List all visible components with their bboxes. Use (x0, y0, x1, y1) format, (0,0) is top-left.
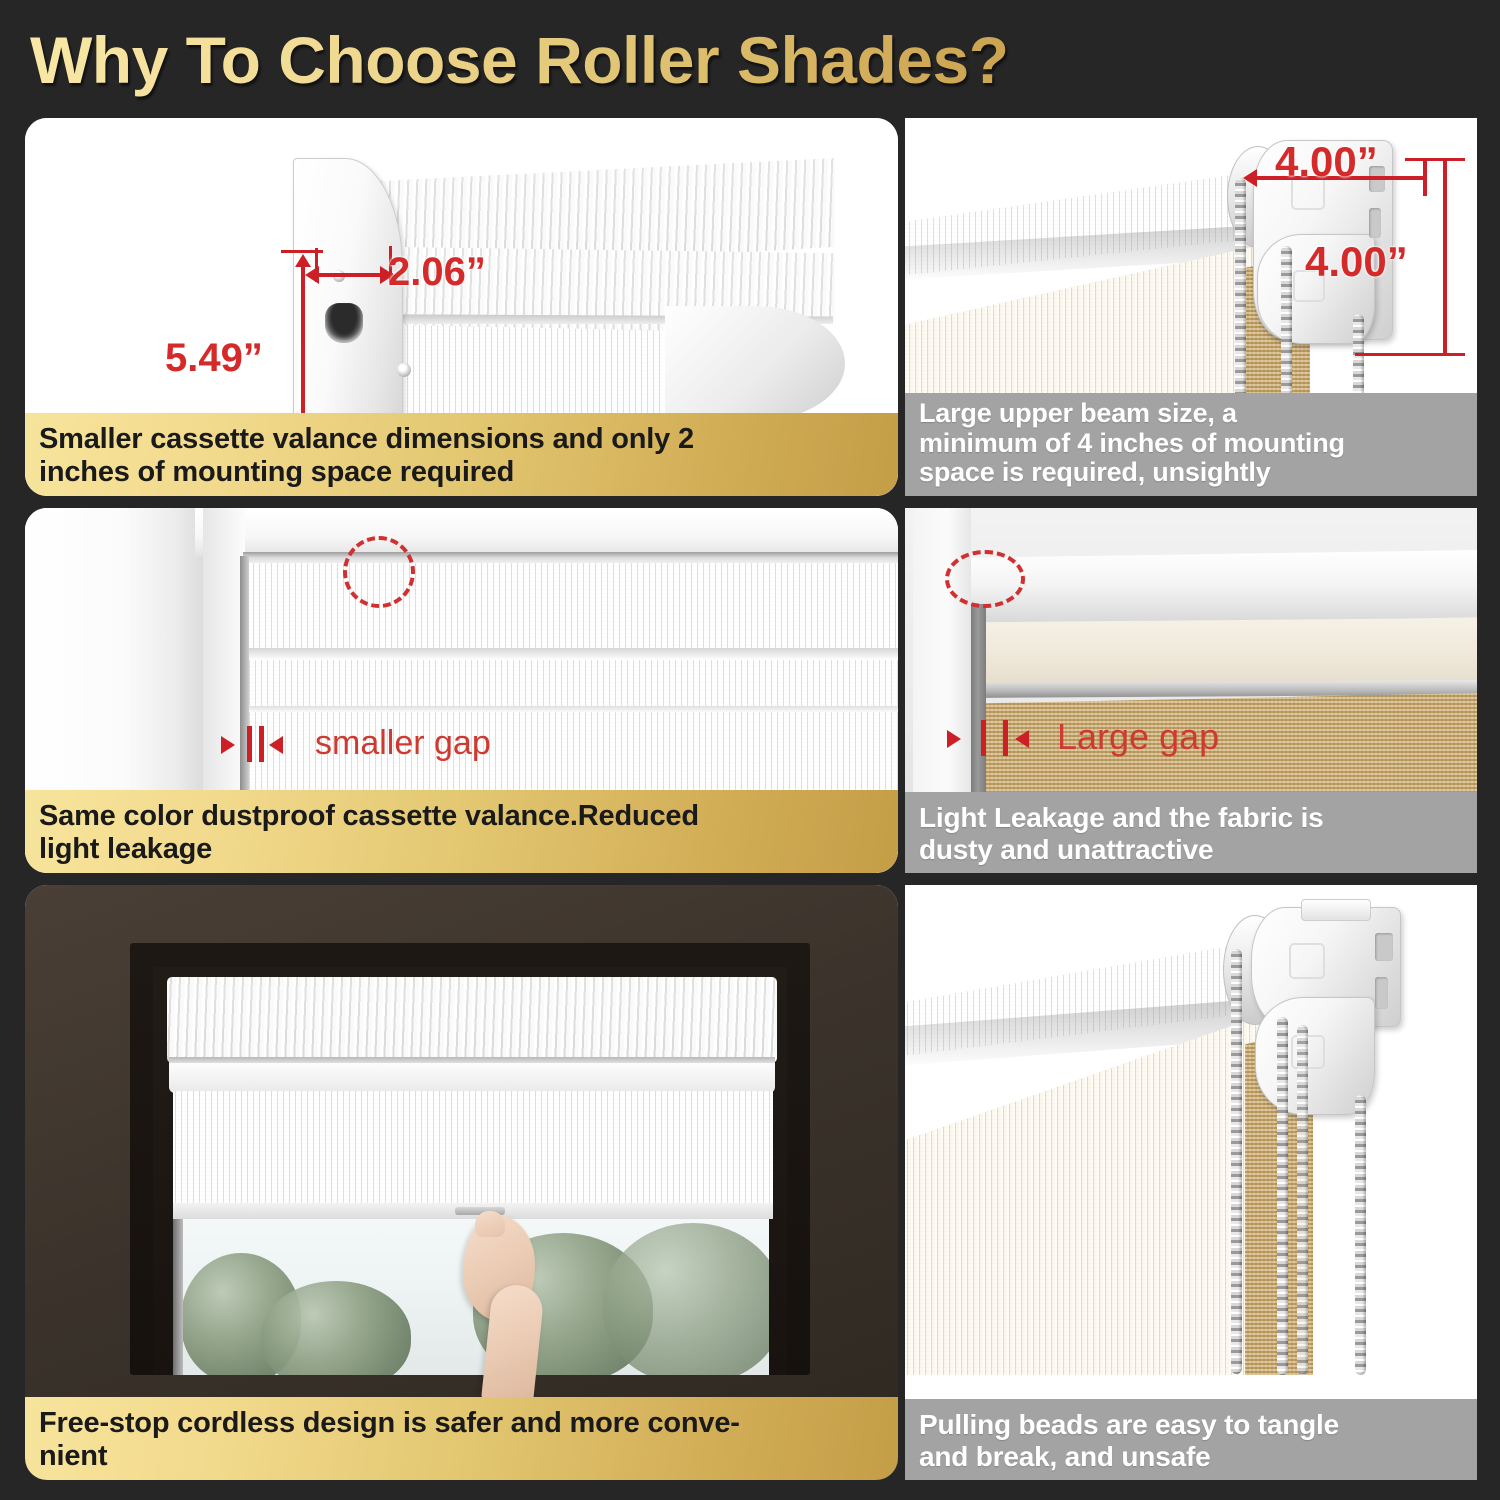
cassette-headrail (167, 977, 777, 1063)
bead-chain-2 (1277, 1017, 1288, 1375)
dim-width-label: 4.00” (1275, 138, 1378, 186)
dim-height-tick-top (281, 250, 323, 253)
panel-6-caption: Pulling beads are easy to tangle and bre… (905, 1399, 1477, 1480)
panel-pulling-beads: Pulling beads are easy to tangle and bre… (905, 885, 1477, 1480)
fabric-band-cream (965, 618, 1477, 690)
tree-far-right (603, 1223, 769, 1375)
valance-under-shadow (245, 648, 898, 660)
highlight-circle (945, 550, 1025, 608)
gap-tick-right (1003, 720, 1008, 756)
bead-chain-4 (1355, 1095, 1366, 1375)
head-rail (965, 550, 1477, 628)
headrail-lower-lip (169, 1063, 775, 1093)
bead-chain-1 (1231, 949, 1242, 1374)
gap-label: smaller gap (315, 724, 491, 763)
panel-1-caption: Smaller cassette valance dimensions and … (25, 413, 898, 496)
end-cap-control-slot (325, 303, 363, 343)
window-mullion (173, 1215, 183, 1375)
tree-left-mid (261, 1281, 411, 1375)
dim-height-tick-bottom (1355, 353, 1465, 356)
bracket-slot-lower (1369, 208, 1381, 238)
panel-4-caption: Light Leakage and the fabric is dusty an… (905, 792, 1477, 873)
dim-height-label: 4.00” (1305, 238, 1408, 286)
panel-large-upper-beam: 4.00” 4.00” Large upper beam size, a min… (905, 118, 1477, 496)
panel-2-caption: Large upper beam size, a minimum of 4 in… (905, 393, 1477, 496)
bracket-slot-lower (1375, 977, 1388, 1009)
panel-dustproof-valance: smaller gap Same color dustproof cassett… (25, 508, 898, 873)
gap-arrow-right (269, 736, 283, 754)
highlight-circle (343, 536, 415, 608)
gap-tick-left (981, 720, 986, 756)
dim-width-tick-right (1423, 160, 1427, 196)
panel-5-photo (25, 885, 898, 1480)
gap-label: Large gap (1057, 716, 1219, 758)
bead-chain-1 (1235, 178, 1246, 418)
dim-width-label: 2.06” (388, 250, 486, 295)
shade-fabric (173, 1091, 773, 1219)
dim-height-line (1443, 160, 1447, 356)
gap-tick-right (259, 726, 264, 762)
gap-arrow-right (1015, 730, 1029, 748)
bracket-top-tab (1301, 899, 1371, 921)
dim-height-label: 5.49” (165, 336, 263, 381)
dim-width-tick-left (315, 248, 318, 282)
bead-chain-3 (1297, 1025, 1308, 1375)
dim-width-arrow-left (1243, 169, 1257, 187)
bottom-rail (665, 306, 845, 421)
panel-3-caption: Same color dustproof cassette valance.Re… (25, 790, 898, 873)
infographic-poster: Why To Choose Roller Shades? (0, 0, 1500, 1500)
window-frame-head (195, 508, 898, 556)
end-cap-screw-mid (397, 363, 411, 377)
bracket-emboss-upper (1289, 943, 1325, 979)
panel-smaller-cassette: 2.06” 5.49” Smaller cassette valance dim… (25, 118, 898, 496)
panel-5-caption: Free-stop cordless design is safer and m… (25, 1397, 898, 1480)
finger-grip (475, 1211, 505, 1237)
panel-cordless-design: Free-stop cordless design is safer and m… (25, 885, 898, 1480)
panel-6-photo (905, 885, 1477, 1480)
bracket-slot-upper (1375, 933, 1393, 961)
page-title: Why To Choose Roller Shades? (30, 20, 1130, 100)
side-gap-strip (240, 556, 249, 822)
gap-arrow-left (221, 736, 235, 754)
panel-light-leakage: Large gap Light Leakage and the fabric i… (905, 508, 1477, 873)
dim-height-arrow-up (295, 254, 311, 267)
gap-tick-left (247, 726, 252, 762)
gap-arrow-left (947, 730, 961, 748)
dim-height-tick-top (1405, 158, 1465, 161)
